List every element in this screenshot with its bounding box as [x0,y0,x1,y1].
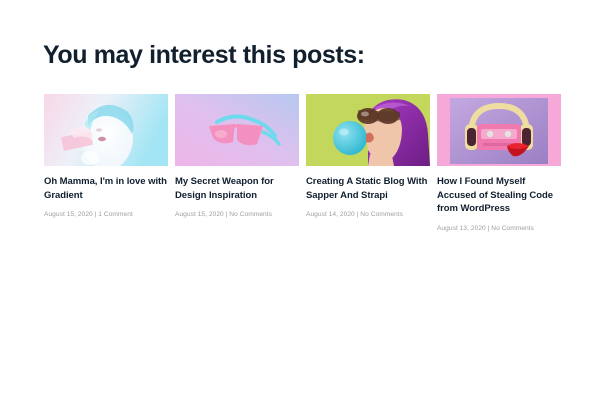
post-card[interactable]: Oh Mamma, I'm in love with Gradient Augu… [44,94,168,219]
post-meta: August 15, 2020 | 1 Comment [44,210,168,219]
cassette-headphones-lips-thumbnail[interactable] [437,94,561,166]
post-title[interactable]: How I Found Myself Accused of Stealing C… [437,175,561,216]
post-card[interactable]: Creating A Static Blog With Sapper And S… [306,94,430,219]
post-title[interactable]: Oh Mamma, I'm in love with Gradient [44,175,168,202]
post-card[interactable]: My Secret Weapon for Design Inspiration … [175,94,299,219]
thumbnail-image-3 [306,94,430,166]
bubblegum-purple-wig-thumbnail[interactable] [306,94,430,166]
gradient-portrait-phone-thumbnail[interactable] [44,94,168,166]
post-meta: August 14, 2020 | No Comments [306,210,430,219]
post-meta: August 13, 2020 | No Comments [437,224,561,233]
thumbnail-image-1 [44,94,168,166]
thumbnail-image-2 [175,94,299,166]
posts-grid: Oh Mamma, I'm in love with Gradient Augu… [44,94,559,233]
page-title: You may interest this posts: [43,40,365,70]
post-card[interactable]: How I Found Myself Accused of Stealing C… [437,94,561,233]
post-meta: August 15, 2020 | No Comments [175,210,299,219]
thumbnail-image-4 [437,94,561,166]
related-posts-section: You may interest this posts: [0,0,600,414]
pink-sunglasses-thumbnail[interactable] [175,94,299,166]
post-title[interactable]: My Secret Weapon for Design Inspiration [175,175,299,202]
post-title[interactable]: Creating A Static Blog With Sapper And S… [306,175,430,202]
